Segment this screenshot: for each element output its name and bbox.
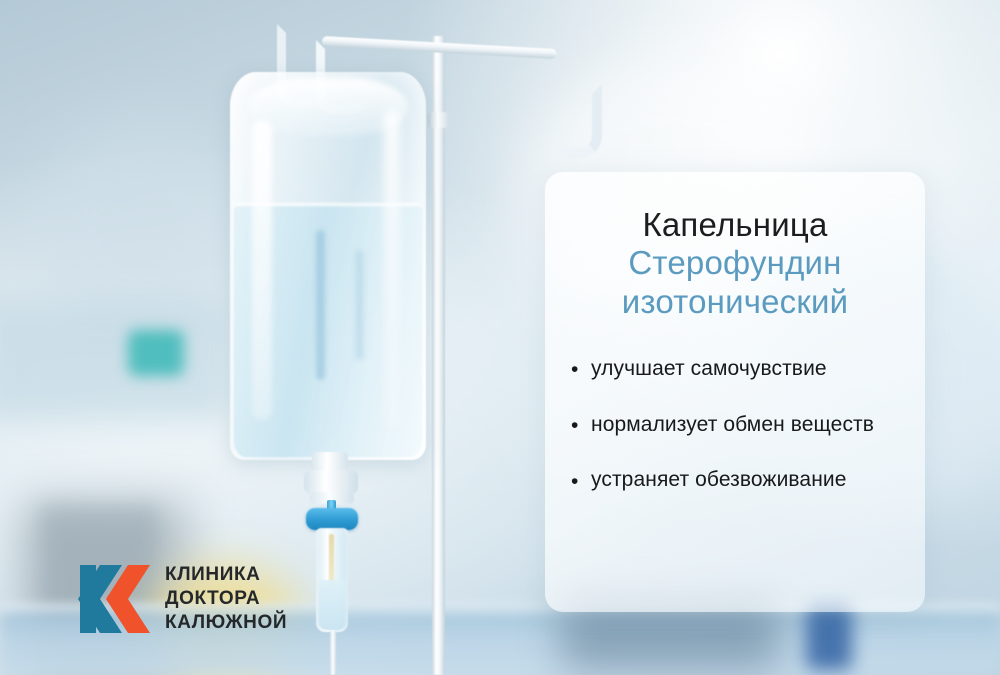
list-item: • устраняет обезвоживание [569, 466, 899, 494]
logo-line-2: ДОКТОРА [165, 587, 287, 611]
list-item: • нормализует обмен веществ [569, 411, 899, 439]
iv-bag-inner-streak-2 [356, 250, 363, 360]
promo-banner: Капельница Стерофундин изотонический • у… [0, 0, 1000, 675]
bullet-marker-icon: • [571, 356, 578, 384]
clinic-logo: КЛИНИКА ДОКТОРА КАЛЮЖНОЙ [78, 556, 318, 642]
iv-bag-highlight-right [384, 110, 400, 430]
drip-chamber-cap [306, 508, 358, 530]
card-heading-line-3: изотонический [567, 283, 903, 321]
iv-bag-inner-streak [316, 230, 325, 380]
logo-chevron-k-icon [78, 562, 154, 636]
list-item-label: нормализует обмен веществ [591, 413, 874, 436]
bullet-marker-icon: • [571, 412, 578, 440]
background-wall-panel [0, 300, 230, 420]
logo-line-1: КЛИНИКА [165, 563, 287, 587]
iv-tube [330, 630, 336, 675]
bullet-marker-icon: • [571, 468, 578, 496]
background-navy-object [806, 604, 852, 670]
card-heading-line-2: Стерофундин [567, 244, 903, 282]
logo-wordmark: КЛИНИКА ДОКТОРА КАЛЮЖНОЙ [165, 563, 287, 635]
iv-bag-port-cap [304, 470, 358, 494]
list-item-label: устраняет обезвоживание [591, 468, 847, 491]
iv-pole [432, 36, 445, 675]
list-item-label: улучшает самочувствие [591, 357, 827, 380]
drip-chamber-fluid [319, 580, 345, 630]
card-heading-line-1: Капельница [567, 206, 903, 244]
background-teal-marker [128, 330, 184, 376]
logo-line-3: КАЛЮЖНОЙ [165, 611, 287, 635]
info-card: Капельница Стерофундин изотонический • у… [545, 172, 925, 612]
iv-pole-collar [428, 112, 449, 128]
iv-bag-highlight-left [252, 120, 272, 420]
iv-hook-right [548, 84, 602, 158]
benefits-list: • улучшает самочувствие • нормализует об… [567, 355, 903, 494]
list-item: • улучшает самочувствие [569, 355, 899, 383]
